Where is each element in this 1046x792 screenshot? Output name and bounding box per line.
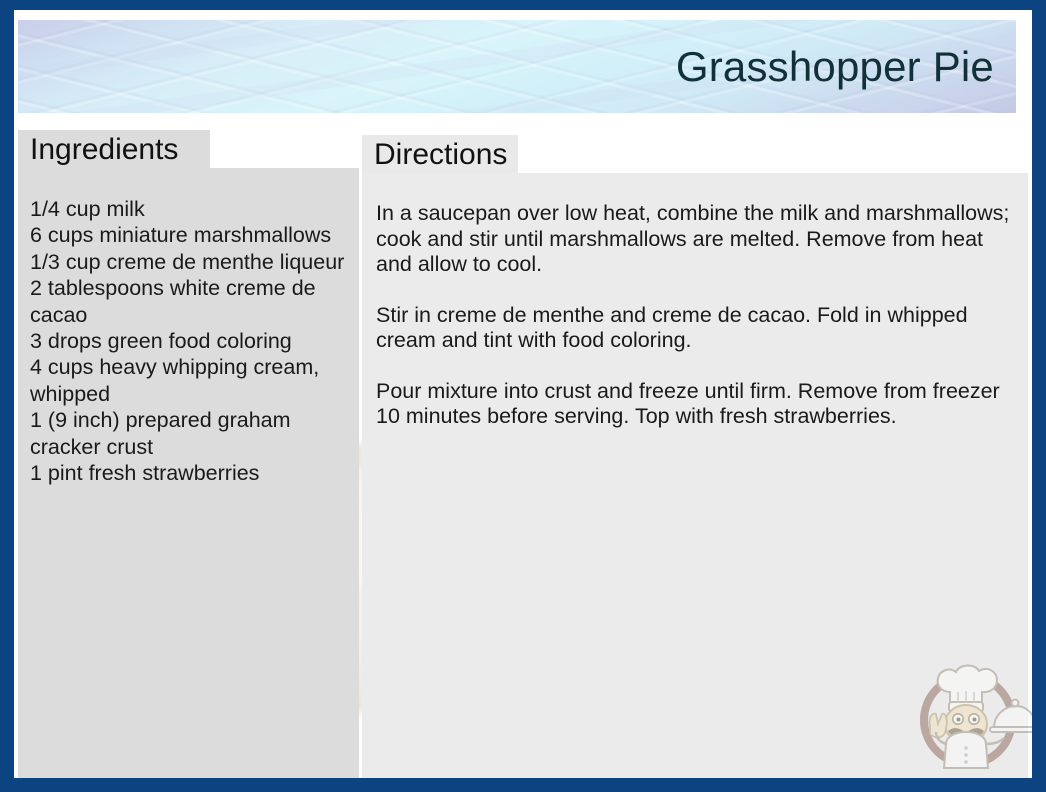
directions-tab[interactable]: Directions <box>362 135 518 173</box>
header-banner: Grasshopper Pie <box>18 20 1016 113</box>
recipe-card: Grasshopper Pie <box>0 0 1046 792</box>
ingredient-item: 1/4 cup milk <box>30 196 347 222</box>
ingredient-item: 6 cups miniature marshmallows <box>30 222 347 248</box>
ingredients-tab[interactable]: Ingredients <box>18 130 210 168</box>
ingredient-item: 1 (9 inch) prepared graham <box>30 407 347 433</box>
ingredient-item: cracker crust <box>30 434 347 460</box>
ingredient-item: cacao <box>30 302 347 328</box>
ingredient-item: whipped <box>30 381 347 407</box>
ingredient-item: 1/3 cup creme de menthe liqueur <box>30 249 347 275</box>
direction-step: Pour mixture into crust and freeze until… <box>376 379 1014 430</box>
ingredient-item: 4 cups heavy whipping cream, <box>30 354 347 380</box>
directions-panel: In a saucepan over low heat, combine the… <box>362 173 1028 778</box>
ingredient-item: 3 drops green food coloring <box>30 328 347 354</box>
direction-step: Stir in creme de menthe and creme de cac… <box>376 303 1014 354</box>
ingredients-panel: 1/4 cup milk 6 cups miniature marshmallo… <box>18 168 359 778</box>
direction-step: In a saucepan over low heat, combine the… <box>376 201 1014 278</box>
page-title: Grasshopper Pie <box>676 43 994 91</box>
ingredient-item: 2 tablespoons white creme de <box>30 275 347 301</box>
ingredient-item: 1 pint fresh strawberries <box>30 460 347 486</box>
recipe-page: Grasshopper Pie <box>14 10 1032 778</box>
